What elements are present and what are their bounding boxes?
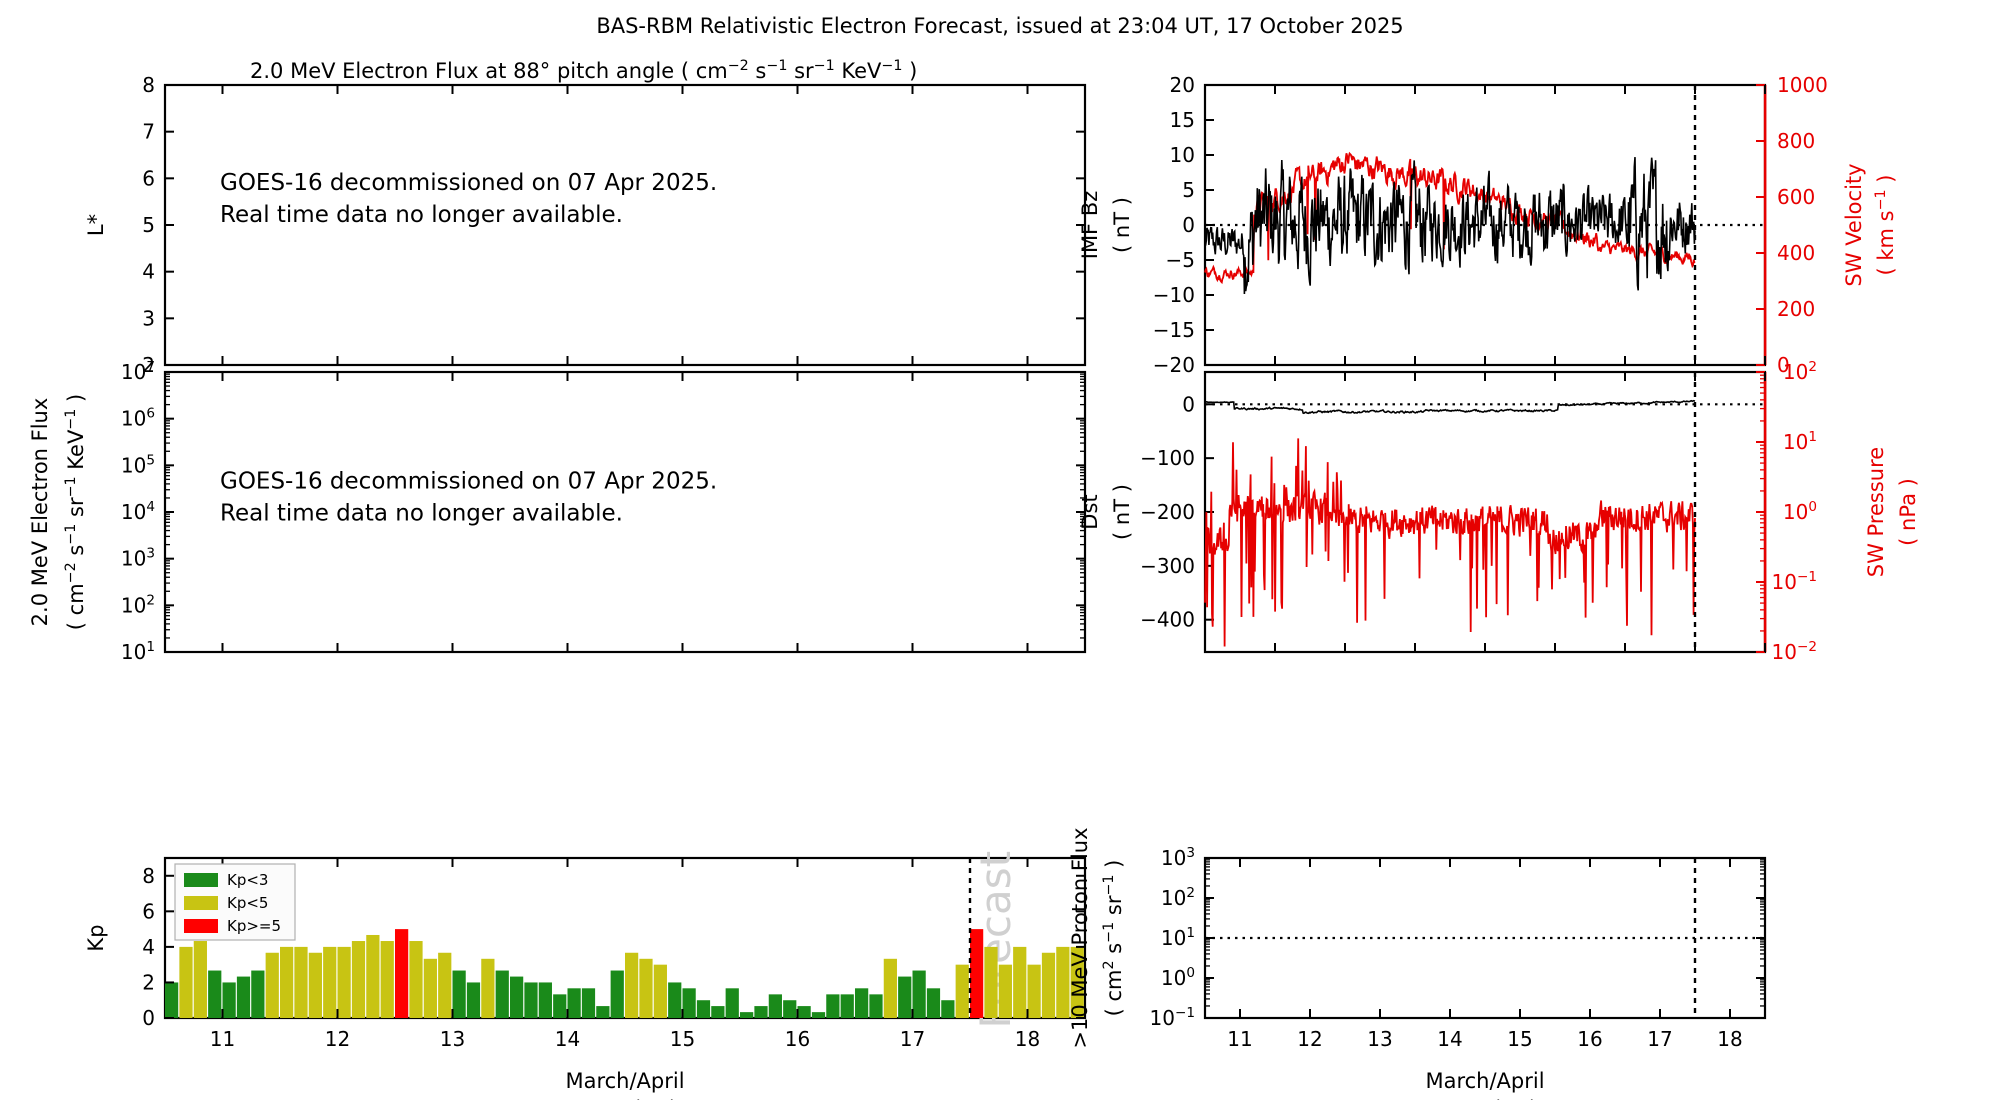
kp-bar — [323, 947, 336, 1018]
sw-pressure-trace — [1205, 438, 1695, 646]
sw-pressure-axis-label-line-1: SW Pressure — [1864, 447, 1888, 577]
bz-ytick: −20 — [1153, 353, 1195, 377]
kp-bar — [826, 994, 839, 1018]
kp-bar — [553, 994, 566, 1018]
flux-ytick: 104 — [121, 499, 155, 524]
kp-legend-label: Kp<5 — [227, 894, 268, 912]
sw-velocity-axis-label-line-2: ( km s−1 ) — [1873, 174, 1898, 275]
kp-bar — [611, 971, 624, 1018]
kp-bar — [654, 965, 667, 1018]
kp-bar — [438, 953, 451, 1018]
kp-bar — [855, 988, 868, 1018]
proton-xtick: 11 — [1227, 1027, 1252, 1051]
proton-xlabel-line-1: March/April — [1425, 1069, 1544, 1093]
sw-pressure-ytick: 102 — [1783, 359, 1817, 384]
bz-ytick: 15 — [1170, 108, 1195, 132]
kp-bar — [496, 971, 509, 1018]
flux-ytick: 107 — [121, 359, 155, 384]
kp-legend-label: Kp>=5 — [227, 917, 281, 935]
kp-xtick: 15 — [670, 1027, 695, 1051]
kp-bar — [381, 941, 394, 1018]
kp-bar — [999, 965, 1012, 1018]
kp-bar — [1013, 947, 1026, 1018]
kp-bar — [884, 959, 897, 1018]
kp-bar — [941, 1000, 954, 1018]
kp-bar — [970, 929, 983, 1018]
flux-message-line-1: GOES-16 decommissioned on 07 Apr 2025. — [220, 468, 717, 494]
flux-ytick: 101 — [121, 639, 155, 664]
kp-bar — [338, 947, 351, 1018]
bz-ytick: −10 — [1153, 283, 1195, 307]
lstar-ytick: 3 — [142, 306, 155, 330]
kp-bar — [208, 971, 221, 1018]
lstar-ytick: 8 — [142, 73, 155, 97]
bz-axis-label-line-2: ( nT ) — [1110, 197, 1134, 253]
kp-xtick: 11 — [210, 1027, 235, 1051]
kp-bar — [582, 988, 595, 1018]
kp-bar — [280, 947, 293, 1018]
kp-bar — [740, 1012, 753, 1018]
flux-ytick: 105 — [121, 452, 155, 477]
kp-bar — [956, 965, 969, 1018]
proton-xtick: 15 — [1507, 1027, 1532, 1051]
kp-xtick: 18 — [1015, 1027, 1040, 1051]
kp-bar — [568, 988, 581, 1018]
sw-velocity-ytick: 200 — [1777, 297, 1815, 321]
dst-ytick: −400 — [1140, 608, 1195, 632]
lstar-message-line-1: GOES-16 decommissioned on 07 Apr 2025. — [220, 170, 717, 196]
kp-bar — [913, 971, 926, 1018]
proton-ytick: 10−1 — [1150, 1005, 1196, 1030]
proton-xtick: 14 — [1437, 1027, 1462, 1051]
dst-ytick: −100 — [1140, 446, 1195, 470]
kp-ytick: 0 — [142, 1006, 155, 1030]
kp-bar — [309, 953, 322, 1018]
proton-ytick: 101 — [1161, 925, 1195, 950]
kp-xtick: 17 — [900, 1027, 925, 1051]
sw-pressure-ytick: 10−2 — [1772, 639, 1818, 664]
dst-ytick: −200 — [1140, 500, 1195, 524]
kp-bar — [711, 1006, 724, 1018]
proton-axis-label-line-2: ( cm2 s−1 sr−1 ) — [1101, 860, 1126, 1017]
sw-velocity-ytick: 800 — [1777, 129, 1815, 153]
flux-axis-label-line-2: ( cm−2 s−1 sr−1 KeV−1 ) — [63, 394, 88, 630]
proton-xtick: 13 — [1367, 1027, 1392, 1051]
kp-bar — [697, 1000, 710, 1018]
kp-bar — [1028, 965, 1041, 1018]
imf-bz-plot-frame: −20−15−10−50510152002004006008001000IMF … — [1078, 73, 1866, 377]
lstar-ytick: 4 — [142, 260, 155, 284]
kp-plot-frame: Forecast024681112131415161718KpMarch/Apr… — [84, 851, 1085, 1100]
kp-bar — [683, 988, 696, 1018]
kp-bar — [481, 959, 494, 1018]
proton-ytick: 102 — [1161, 885, 1195, 910]
sw-pressure-ytick: 101 — [1783, 429, 1817, 454]
kp-bar — [898, 977, 911, 1018]
kp-legend-swatch — [184, 896, 218, 910]
flux-ytick: 106 — [121, 406, 155, 431]
dst-axis-label-line-1: Dst — [1078, 494, 1102, 529]
kp-xtick: 13 — [440, 1027, 465, 1051]
electron-flux-plot-frame: 2.0 MeV Electron FluxGOES-16 decommissio… — [28, 372, 1085, 652]
kp-bar — [625, 953, 638, 1018]
kp-bar — [165, 982, 178, 1018]
kp-bar — [596, 1006, 609, 1018]
kp-ytick: 8 — [142, 864, 155, 888]
proton-xtick: 12 — [1297, 1027, 1322, 1051]
flux-message-line-2: Real time data no longer available. — [220, 500, 623, 526]
kp-bar — [668, 982, 681, 1018]
lstar-ytick: 7 — [142, 120, 155, 144]
sw-pressure-ytick: 100 — [1783, 499, 1817, 524]
kp-bar — [424, 959, 437, 1018]
sw-velocity-ytick: 600 — [1777, 185, 1815, 209]
kp-bar — [467, 982, 480, 1018]
flux-ytick: 103 — [121, 546, 155, 571]
kp-bar — [409, 941, 422, 1018]
proton-axis-label-line-1: >10 MeV Proton Flux — [1068, 827, 1092, 1048]
sw-velocity-ytick: 1000 — [1777, 73, 1828, 97]
kp-bar — [395, 929, 408, 1018]
kp-ytick: 4 — [142, 935, 155, 959]
dst-trace — [1205, 401, 1695, 414]
kp-bar — [266, 953, 279, 1018]
dst-axis-label-line-2: ( nT ) — [1110, 484, 1134, 540]
bz-ytick: −5 — [1166, 248, 1195, 272]
kp-legend-swatch — [184, 873, 218, 887]
kp-bar — [366, 935, 379, 1018]
bz-ytick: 20 — [1170, 73, 1195, 97]
kp-bar — [1042, 953, 1055, 1018]
imf-bz-trace — [1205, 157, 1695, 294]
kp-bar — [223, 982, 236, 1018]
proton-ytick: 103 — [1161, 845, 1195, 870]
forecast-plot-canvas: 2345678L*GOES-16 decommissioned on 07 Ap… — [0, 0, 2000, 1100]
kp-bar — [869, 994, 882, 1018]
proton-xtick: 16 — [1577, 1027, 1602, 1051]
kp-bar — [812, 1012, 825, 1018]
kp-bar — [453, 971, 466, 1018]
kp-bar — [984, 947, 997, 1018]
kp-bar — [352, 941, 365, 1018]
kp-xtick: 12 — [325, 1027, 350, 1051]
bz-ytick: 10 — [1170, 143, 1195, 167]
kp-bar — [927, 988, 940, 1018]
lstar-message-line-2: Real time data no longer available. — [220, 202, 623, 228]
kp-bar — [251, 971, 264, 1018]
kp-bar — [194, 941, 207, 1018]
kp-ytick: 2 — [142, 970, 155, 994]
lstar-ytick: 6 — [142, 166, 155, 190]
dst-ytick: 0 — [1182, 392, 1195, 416]
flux-axis-label-line-1: 2.0 MeV Electron Flux — [28, 398, 52, 627]
dst-ytick: −300 — [1140, 554, 1195, 578]
kp-xtick: 14 — [555, 1027, 580, 1051]
kp-bar — [754, 1006, 767, 1018]
kp-bar — [783, 1000, 796, 1018]
lstar-ytick: 5 — [142, 213, 155, 237]
kp-bar — [769, 994, 782, 1018]
kp-xtick: 16 — [785, 1027, 810, 1051]
kp-bar — [798, 1006, 811, 1018]
kp-legend-swatch — [184, 919, 218, 933]
kp-legend: Kp<3Kp<5Kp>=5 — [175, 864, 295, 940]
kp-bar — [524, 982, 537, 1018]
sw-pressure-ytick: 10−1 — [1772, 569, 1818, 594]
kp-bar — [726, 988, 739, 1018]
proton-xtick: 18 — [1717, 1027, 1742, 1051]
lstar-plot-frame: 2345678L*GOES-16 decommissioned on 07 Ap… — [84, 73, 1085, 377]
proton-ytick: 100 — [1161, 965, 1195, 990]
bz-ytick: −15 — [1153, 318, 1195, 342]
kp-bar — [639, 959, 652, 1018]
lstar-axis-label: L* — [84, 214, 108, 236]
kp-bar — [179, 947, 192, 1018]
kp-bar — [237, 977, 250, 1018]
sw-velocity-ytick: 400 — [1777, 241, 1815, 265]
bz-ytick: 5 — [1182, 178, 1195, 202]
kp-xlabel-line-1: March/April — [565, 1069, 684, 1093]
flux-ytick: 102 — [121, 592, 155, 617]
kp-bar — [841, 994, 854, 1018]
bz-ytick: 0 — [1182, 213, 1195, 237]
kp-bar — [539, 982, 552, 1018]
kp-bar — [510, 977, 523, 1018]
sw-velocity-axis-label-line-1: SW Velocity — [1842, 163, 1866, 286]
kp-legend-label: Kp<3 — [227, 871, 268, 889]
kp-ytick: 6 — [142, 899, 155, 923]
bz-axis-label-line-1: IMF Bz — [1078, 191, 1102, 260]
proton-xtick: 17 — [1647, 1027, 1672, 1051]
kp-bar — [294, 947, 307, 1018]
sw-pressure-axis-label-line-2: ( nPa ) — [1896, 478, 1920, 546]
kp-axis-label: Kp — [84, 924, 108, 951]
